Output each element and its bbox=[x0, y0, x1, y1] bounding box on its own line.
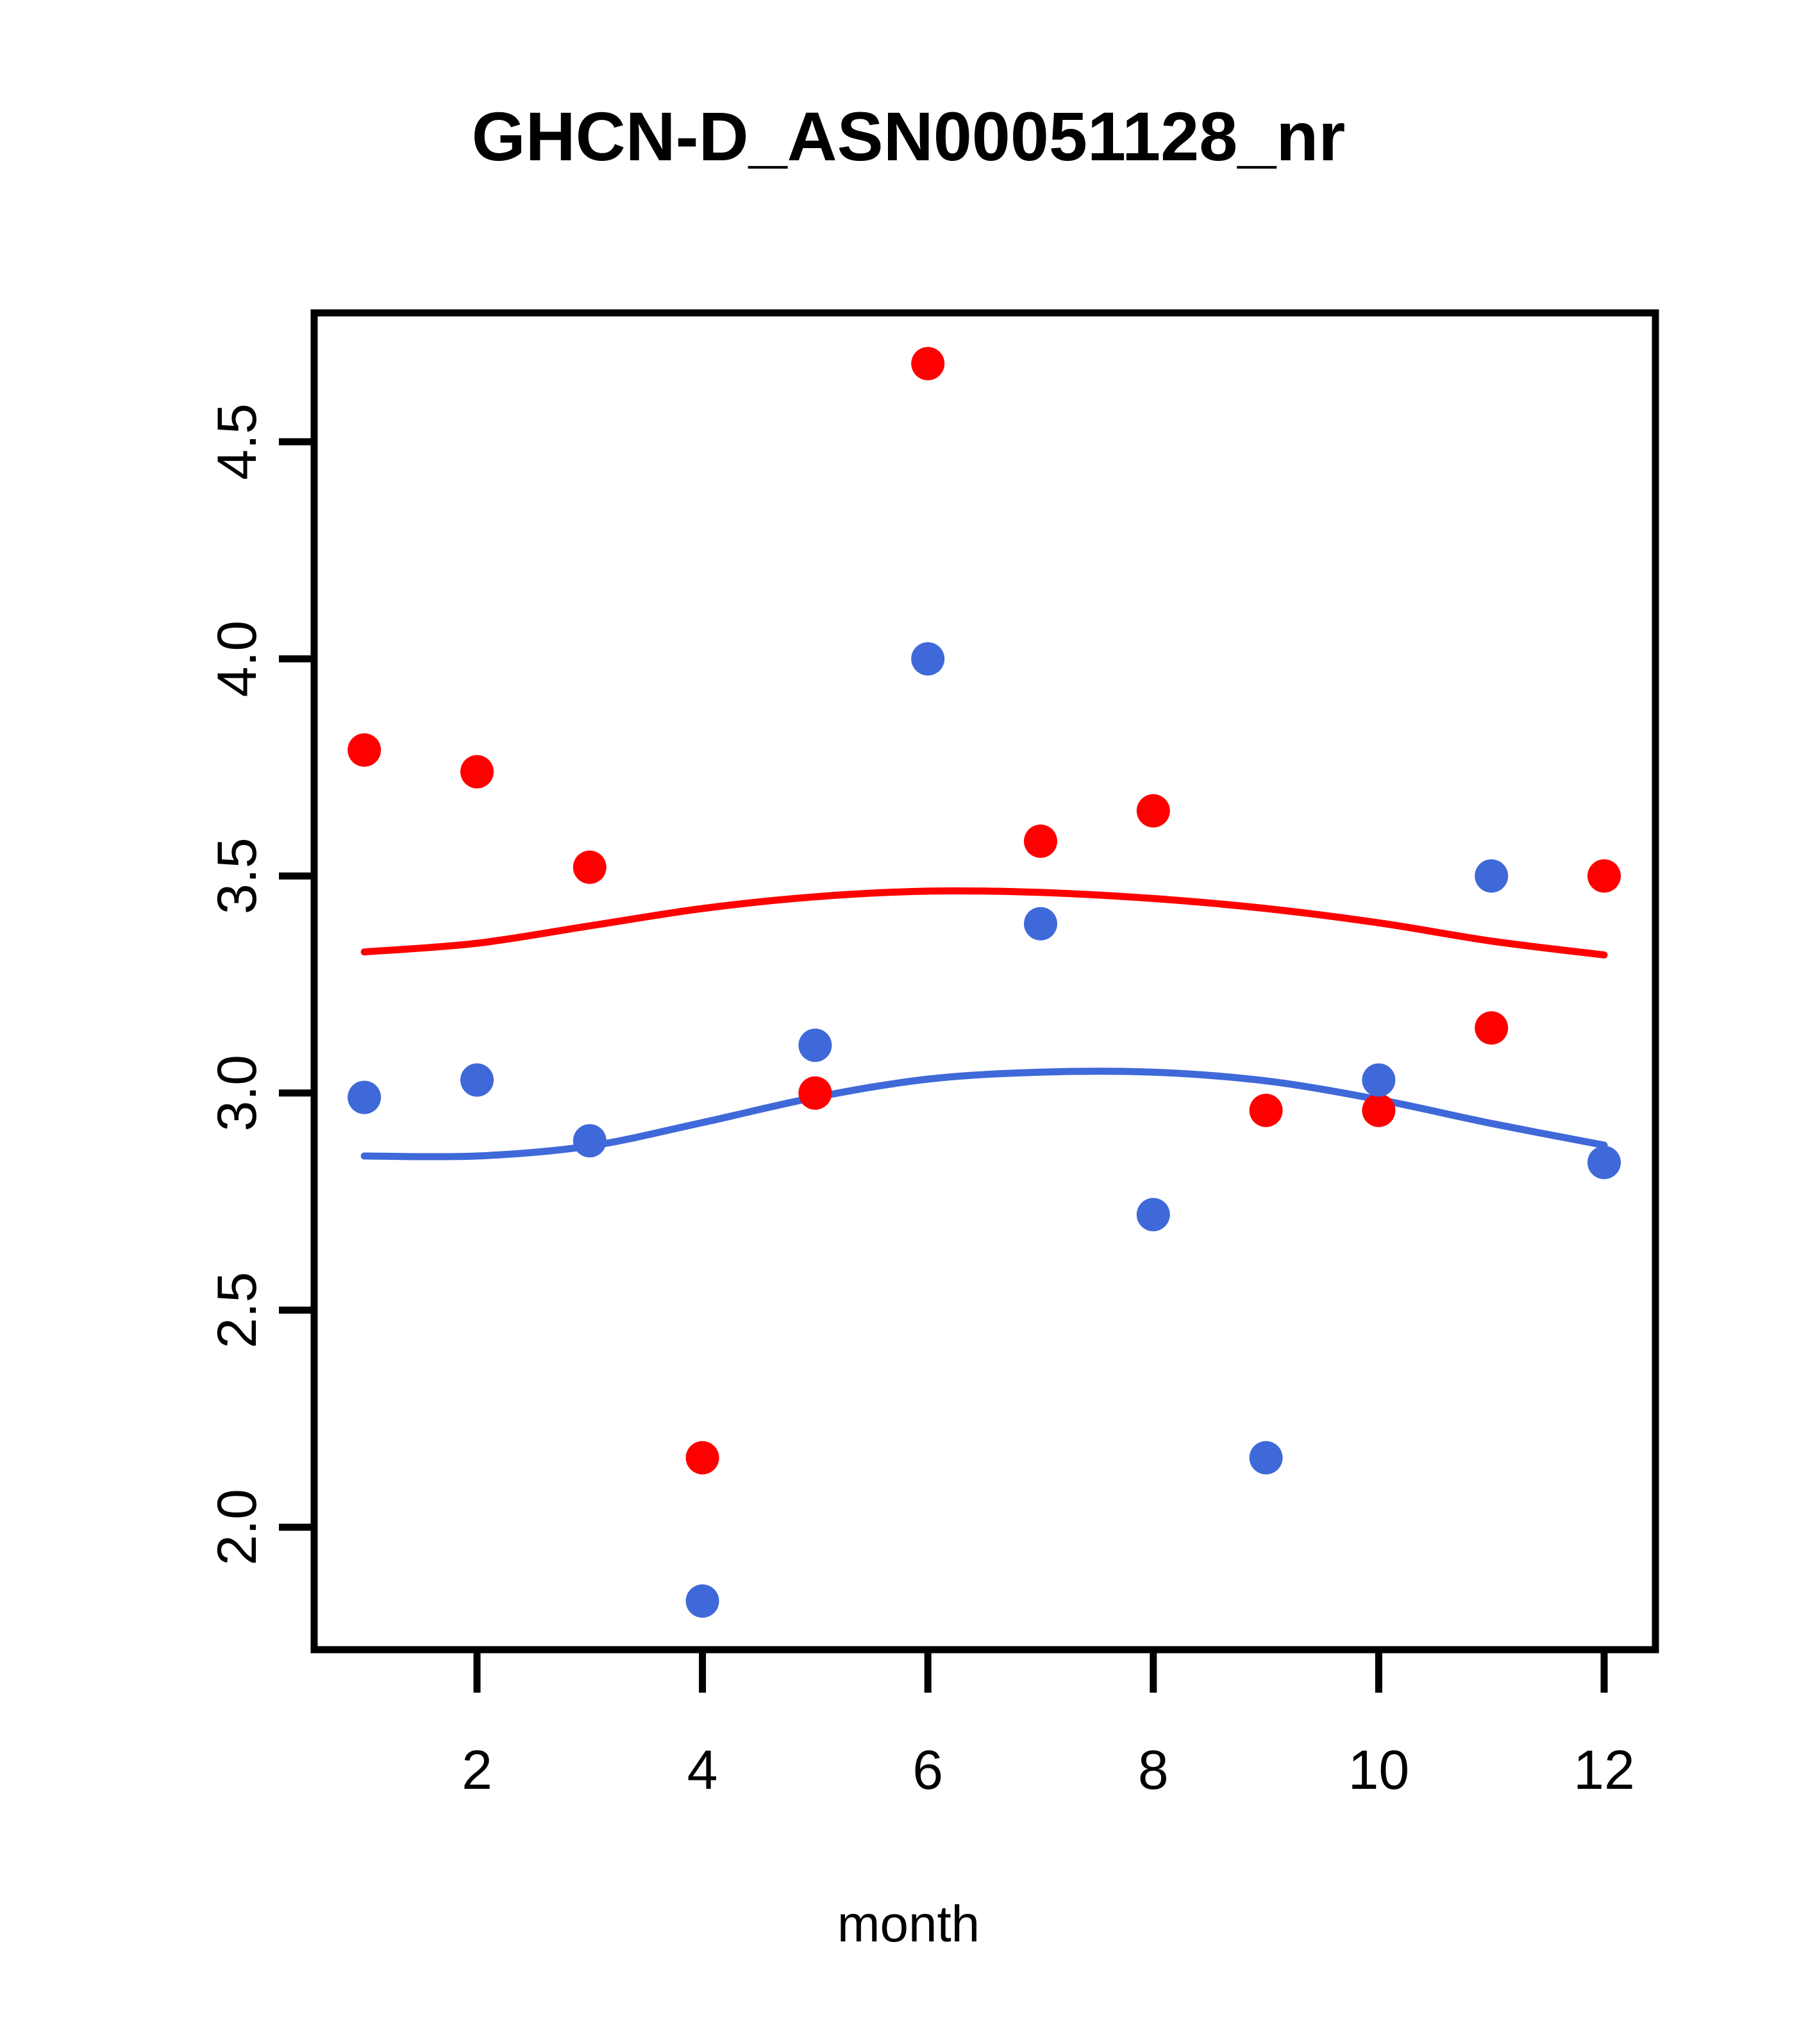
data-point bbox=[347, 1081, 381, 1114]
data-point bbox=[1250, 1441, 1283, 1475]
plot-area: 2.02.53.03.54.04.5 24681012 bbox=[0, 0, 1817, 2044]
data-point bbox=[1587, 1146, 1621, 1179]
trend-line-blue-smooth-line bbox=[364, 1071, 1604, 1157]
data-point bbox=[1475, 1011, 1508, 1044]
data-point bbox=[347, 733, 381, 767]
data-point bbox=[573, 851, 607, 884]
y-tick-label: 4.5 bbox=[206, 403, 268, 480]
data-point bbox=[1362, 1094, 1395, 1127]
y-tick-label: 3.5 bbox=[206, 837, 268, 914]
series-blue-points bbox=[347, 642, 1621, 1618]
x-tick-label: 8 bbox=[1138, 1739, 1169, 1801]
data-point bbox=[911, 642, 944, 676]
y-tick-label: 2.5 bbox=[206, 1272, 268, 1349]
data-points-layer bbox=[347, 347, 1621, 1618]
x-axis-label: month bbox=[0, 1895, 1817, 1954]
y-tick-label: 4.0 bbox=[206, 621, 268, 698]
data-point bbox=[1250, 1094, 1283, 1127]
plot-frame-box bbox=[314, 313, 1655, 1650]
data-point bbox=[460, 1063, 494, 1096]
x-tick-label: 10 bbox=[1348, 1739, 1410, 1801]
data-point bbox=[1137, 1198, 1170, 1231]
chart-page: GHCN-D_ASN00051128_nr 2.02.53.03.54.04.5… bbox=[0, 0, 1817, 2044]
trend-line-red-smooth-line bbox=[364, 891, 1604, 955]
trend-lines-layer bbox=[364, 891, 1604, 1157]
data-point bbox=[798, 1028, 832, 1062]
data-point bbox=[1587, 859, 1621, 892]
data-point bbox=[1475, 859, 1508, 892]
y-tick-label: 3.0 bbox=[206, 1055, 268, 1132]
x-axis-ticks: 24681012 bbox=[462, 1650, 1635, 1801]
data-point bbox=[686, 1584, 719, 1618]
data-point bbox=[460, 755, 494, 789]
x-tick-label: 4 bbox=[687, 1739, 718, 1801]
y-axis-ticks: 2.02.53.03.54.04.5 bbox=[206, 403, 314, 1566]
x-tick-label: 2 bbox=[462, 1739, 492, 1801]
data-point bbox=[686, 1441, 719, 1475]
data-point bbox=[798, 1076, 832, 1110]
x-tick-label: 12 bbox=[1573, 1739, 1635, 1801]
series-red-points bbox=[347, 347, 1621, 1475]
data-point bbox=[1362, 1063, 1395, 1096]
data-point bbox=[573, 1124, 607, 1157]
x-tick-label: 6 bbox=[912, 1739, 943, 1801]
data-point bbox=[911, 347, 944, 380]
data-point bbox=[1024, 907, 1057, 941]
data-point bbox=[1137, 794, 1170, 828]
scatter-plot-svg: 2.02.53.03.54.04.5 24681012 bbox=[0, 0, 1817, 2044]
data-point bbox=[1024, 825, 1057, 858]
y-tick-label: 2.0 bbox=[206, 1489, 268, 1566]
